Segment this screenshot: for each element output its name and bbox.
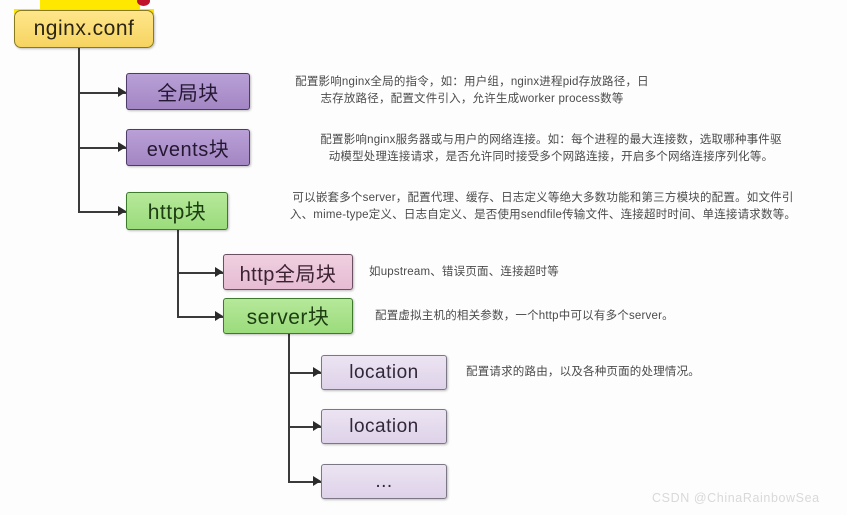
yellow-highlight-strip (40, 0, 140, 9)
arrow-root-to-global (118, 87, 126, 97)
description-location-1-line-1: 配置请求的路由，以及各种页面的处理情况。 (466, 364, 796, 381)
description-http-global-block: 如upstream、错误页面、连接超时等 (369, 264, 649, 281)
node-server-block-label: server块 (247, 301, 330, 331)
node-global-block-label: 全局块 (157, 77, 219, 106)
description-location-1: 配置请求的路由，以及各种页面的处理情况。 (466, 364, 796, 381)
description-http-block-line-2: 入、mime-type定义、日志自定义、是否使用sendfile传输文件、连接超… (242, 207, 844, 224)
description-http-global-block-line-1: 如upstream、错误页面、连接超时等 (369, 264, 649, 281)
arrow-server-to-location-more (313, 476, 321, 486)
description-http-block-line-1: 可以嵌套多个server，配置代理、缓存、日志定义等绝大多数功能和第三方模块的配… (242, 190, 844, 207)
node-nginx-conf[interactable]: nginx.conf (14, 10, 154, 48)
node-http-block-label: http块 (148, 196, 207, 226)
arrow-root-to-events (118, 142, 126, 152)
node-server-block[interactable]: server块 (223, 298, 353, 334)
description-events-block-line-1: 配置影响nginx服务器或与用户的网络连接。如：每个进程的最大连接数，选取哪种事… (258, 132, 844, 149)
description-events-block: 配置影响nginx服务器或与用户的网络连接。如：每个进程的最大连接数，选取哪种事… (258, 132, 844, 166)
node-global-block[interactable]: 全局块 (126, 73, 250, 110)
node-http-global-block-label: http全局块 (240, 258, 337, 287)
node-location-2[interactable]: location (321, 409, 447, 444)
description-global-block-line-2: 志存放路径，配置文件引入，允许生成worker process数等 (262, 91, 682, 108)
node-events-block[interactable]: events块 (126, 129, 250, 166)
description-events-block-line-2: 动模型处理连接请求，是否允许同时接受多个网路连接，开启多个网络连接序列化等。 (258, 149, 844, 166)
node-location-1-label: location (349, 362, 419, 384)
connector-root-trunk (78, 47, 80, 212)
connector-http-trunk (177, 230, 179, 317)
node-http-global-block[interactable]: http全局块 (223, 254, 353, 290)
arrow-root-to-http (118, 206, 126, 216)
node-events-block-label: events块 (147, 133, 229, 162)
diagram-canvas: nginx.conf 全局块 events块 http块 http全局块 ser… (0, 0, 847, 515)
node-location-more[interactable]: ... (321, 464, 447, 499)
description-global-block: 配置影响nginx全局的指令，如：用户组，nginx进程pid存放路径，日 志存… (262, 74, 682, 108)
arrow-server-to-location-1 (313, 367, 321, 377)
description-http-block: 可以嵌套多个server，配置代理、缓存、日志定义等绝大多数功能和第三方模块的配… (242, 190, 844, 224)
node-location-more-label: ... (375, 471, 392, 493)
arrow-http-to-httpglobal (215, 267, 223, 277)
node-location-1[interactable]: location (321, 355, 447, 390)
description-server-block: 配置虚拟主机的相关参数，一个http中可以有多个server。 (375, 308, 775, 325)
arrow-server-to-location-2 (313, 421, 321, 431)
csdn-watermark: CSDN @ChinaRainbowSea (652, 491, 820, 505)
connector-server-trunk (288, 334, 290, 482)
arrow-http-to-server (215, 311, 223, 321)
node-location-2-label: location (349, 416, 419, 438)
node-http-block[interactable]: http块 (126, 192, 228, 230)
description-server-block-line-1: 配置虚拟主机的相关参数，一个http中可以有多个server。 (375, 308, 775, 325)
node-nginx-conf-label: nginx.conf (34, 17, 135, 41)
red-marker-dot (137, 0, 150, 6)
description-global-block-line-1: 配置影响nginx全局的指令，如：用户组，nginx进程pid存放路径，日 (262, 74, 682, 91)
